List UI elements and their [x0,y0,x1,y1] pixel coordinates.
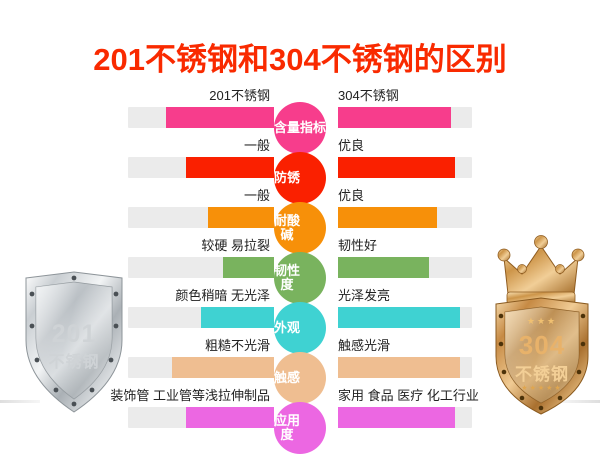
row-left-label: 装饰管 工业管等浅拉伸制品 [110,387,270,404]
shield-right-number: 304 [484,330,600,361]
crown-icon [498,236,584,305]
row-badge: 耐酸碱 [274,202,326,254]
row-badge: 防锈 [274,152,326,204]
row-right-label: 触感光滑 [338,337,390,354]
row-badge-line1: 应用度 [274,414,300,442]
row-left-fill [201,307,274,328]
row-left-fill [186,157,274,178]
row-badge-line1: 耐酸碱 [274,214,300,242]
comparison-row: 201不锈钢 304不锈钢 含量 指标 [0,86,600,136]
row-right-fill [338,407,455,428]
row-right-fill [338,207,437,228]
row-badge: 含量 指标 [274,102,326,154]
shield-left-subtitle: 不锈钢 [18,348,130,372]
row-right-label: 304不锈钢 [338,87,399,104]
row-left-label: 粗糙不光滑 [205,337,270,354]
row-left-track [128,207,274,228]
row-right-fill [338,357,460,378]
page-title: 201不锈钢和304不锈钢的区别 [0,34,600,79]
row-badge-line1: 含量 [274,121,300,135]
row-left-track [128,107,274,128]
row-badge: 韧性度 [274,252,326,304]
row-right-track [338,157,472,178]
row-badge: 触感 [274,352,326,404]
row-left-fill [223,257,274,278]
row-left-label: 颜色稍暗 无光泽 [175,287,270,304]
row-right-label: 优良 [338,137,364,154]
row-left-label: 201不锈钢 [209,87,270,104]
row-left-fill [186,407,274,428]
shield-left-number: 201 [18,320,130,349]
row-badge-line1: 防锈 [274,171,300,185]
row-badge-line1: 触感 [274,371,300,385]
row-badge-line1: 外观 [274,321,300,335]
row-right-track [338,107,472,128]
row-left-track [128,407,274,428]
row-right-fill [338,307,460,328]
row-right-label: 光泽发亮 [338,287,390,304]
row-right-track [338,307,472,328]
row-right-track [338,407,472,428]
row-right-track [338,207,472,228]
row-right-track [338,357,472,378]
row-badge-line2: 指标 [300,121,326,135]
shield-201-silver: 201 不锈钢 [18,268,130,418]
shield-right-subtitle: 不锈钢 [484,360,600,385]
infographic-page: 201不锈钢和304不锈钢的区别 [0,0,600,462]
row-right-track [338,257,472,278]
row-left-track [128,257,274,278]
row-right-label: 韧性好 [338,237,377,254]
row-right-fill [338,257,429,278]
row-left-label: 一般 [244,187,270,204]
row-left-label: 一般 [244,137,270,154]
row-left-fill [172,357,274,378]
row-left-track [128,157,274,178]
row-left-track [128,357,274,378]
shield-right-stars-bottom: ★★★★★ [484,384,600,392]
row-left-track [128,307,274,328]
row-badge: 应用度 [274,402,326,454]
row-left-fill [208,207,274,228]
row-left-label: 较硬 易拉裂 [201,237,270,254]
row-right-label: 优良 [338,187,364,204]
row-badge: 外观 [274,302,326,354]
row-right-label: 家用 食品 医疗 化工行业 [338,387,479,404]
row-badge-line1: 韧性度 [274,264,300,292]
row-right-fill [338,107,451,128]
row-right-fill [338,157,455,178]
row-left-fill [166,107,274,128]
shield-right-stars-top: ★★★ [484,316,600,327]
shield-304-gold: ★★★ 304 不锈钢 ★★★★★ [484,232,600,418]
